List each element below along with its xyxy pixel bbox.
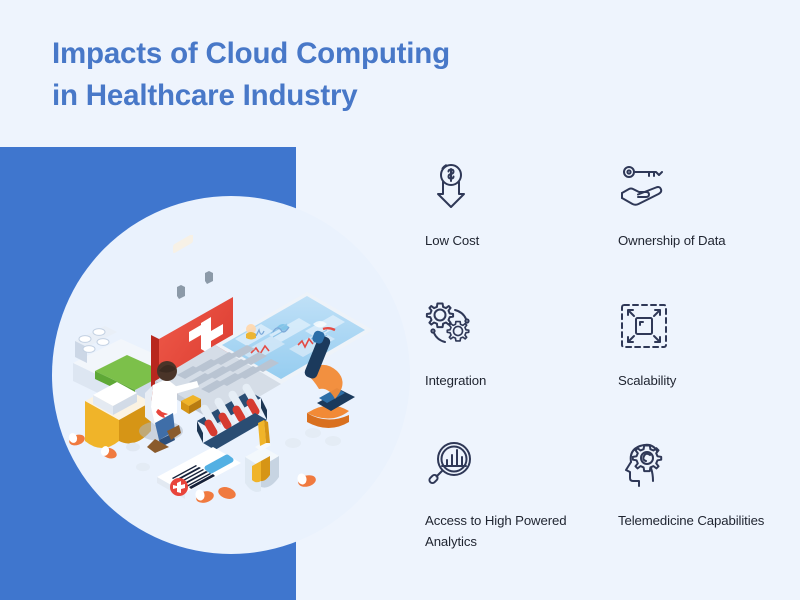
page-title: Impacts of Cloud Computing in Healthcare… — [52, 33, 612, 117]
feature-label: Telemedicine Capabilities — [618, 510, 778, 531]
feature-low-cost[interactable]: Low Cost — [412, 160, 605, 300]
hand-holding-key-icon — [618, 160, 670, 212]
dropper-bottle — [245, 420, 279, 492]
feature-integration[interactable]: Integration — [412, 300, 605, 440]
healthcare-illustration-svg — [55, 235, 395, 525]
head-with-gear-icon — [618, 440, 670, 492]
feature-label: Scalability — [618, 370, 778, 391]
features-grid: Low Cost Ownership of Data — [412, 160, 782, 570]
infographic-canvas: Impacts of Cloud Computing in Healthcare… — [0, 0, 800, 600]
feature-telemedicine[interactable]: Telemedicine Capabilities — [605, 440, 782, 570]
feature-scalability[interactable]: Scalability — [605, 300, 782, 440]
feature-label: Integration — [425, 370, 585, 391]
magnifier-bar-chart-icon — [425, 440, 477, 492]
feature-ownership-of-data[interactable]: Ownership of Data — [605, 160, 782, 300]
page-title-line-2: in Healthcare Industry — [52, 75, 612, 117]
feature-label: Low Cost — [425, 230, 585, 251]
dollar-coin-down-arrow-icon — [425, 160, 477, 212]
page-title-line-1: Impacts of Cloud Computing — [52, 33, 612, 75]
healthcare-illustration — [55, 235, 395, 525]
feature-label: Access to High Powered Analytics — [425, 510, 585, 552]
two-gears-icon — [425, 300, 477, 352]
expand-arrows-square-icon — [618, 300, 670, 352]
feature-label: Ownership of Data — [618, 230, 778, 251]
feature-analytics[interactable]: Access to High Powered Analytics — [412, 440, 605, 570]
